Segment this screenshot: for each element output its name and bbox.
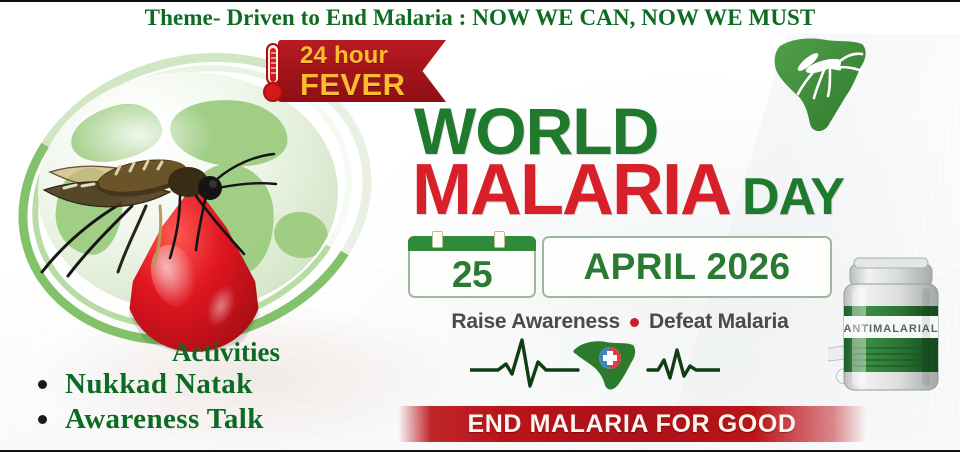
date-month-year-box: APRIL 2026 (542, 236, 832, 298)
headline-malaria: MALARIA (412, 154, 730, 226)
tagline-separator-dot (630, 318, 639, 327)
calendar-header-bar (408, 236, 536, 251)
date-banner: 25 APRIL 2026 (408, 236, 832, 298)
pill-bottle-icon: ANTIMALARIAL (828, 254, 960, 404)
date-month-year: APRIL 2026 (584, 246, 791, 288)
calendar-ring-right (494, 231, 505, 248)
africa-medical-cross-icon (573, 341, 635, 389)
activity-label: Awareness Talk (65, 403, 264, 435)
fever-line-1: 24 hour (300, 44, 440, 68)
theme-banner: Theme- Driven to End Malaria : NOW WE CA… (0, 2, 960, 34)
tagline-right: Defeat Malaria (649, 310, 789, 334)
theme-text: Theme- Driven to End Malaria : NOW WE CA… (145, 5, 816, 31)
calendar-day-box: 25 (408, 236, 536, 298)
fever-text-block: 24 hour FEVER (300, 43, 440, 101)
mosquito-icon (20, 126, 280, 286)
activities-title: Activities (24, 338, 394, 366)
list-item: Awareness Talk (24, 403, 394, 435)
calendar-ring-left (432, 231, 443, 248)
activities-block: Activities Nukkad Natak Awareness Talk (24, 338, 394, 435)
headline-malaria-day: MALARIA DAY (412, 154, 844, 226)
list-item: Nukkad Natak (24, 368, 394, 400)
africa-mosquito-icon (764, 32, 882, 138)
fever-line-2: FEVER (300, 69, 440, 100)
bullet-icon (38, 415, 47, 424)
date-day-number: 25 (410, 253, 534, 296)
activity-label: Nukkad Natak (65, 368, 253, 400)
end-malaria-banner: END MALARIA FOR GOOD (398, 406, 866, 442)
bullet-icon (38, 380, 47, 389)
headline-day: DAY (742, 171, 844, 223)
tagline: Raise Awareness Defeat Malaria (410, 310, 830, 334)
thermometer-icon (256, 42, 290, 104)
ecg-heartbeat-icon (470, 332, 720, 394)
end-malaria-text: END MALARIA FOR GOOD (467, 410, 796, 439)
world-malaria-day-poster: Theme- Driven to End Malaria : NOW WE CA… (0, 0, 960, 452)
tagline-left: Raise Awareness (451, 310, 620, 334)
fever-badge: 24 hour FEVER (252, 40, 446, 104)
